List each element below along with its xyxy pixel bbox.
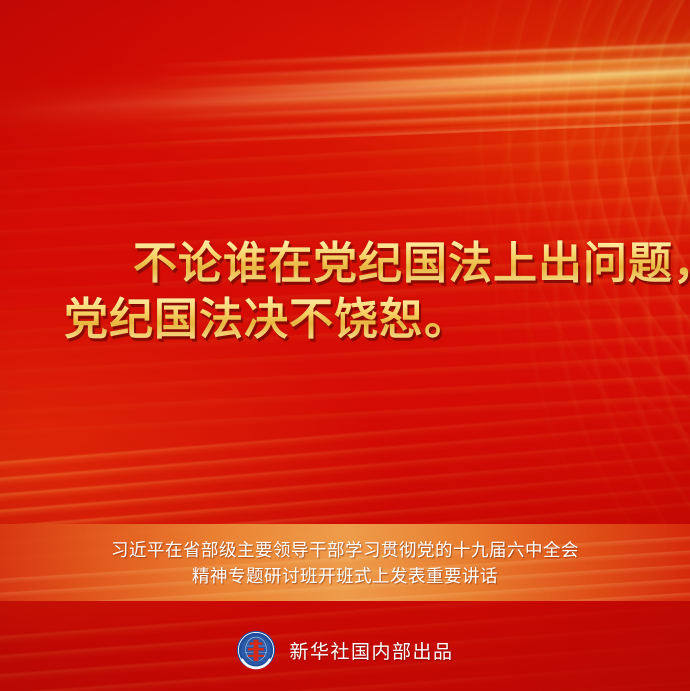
headline-line-1: 不论谁在党纪国法上出问题，: [0, 236, 690, 292]
xinhua-emblem-icon: XINHUA: [236, 630, 276, 670]
poster-root: 不论谁在党纪国法上出问题， 党纪国法决不饶恕。 习近平在省部级主要领导干部学习贯…: [0, 0, 690, 691]
svg-text:XINHUA: XINHUA: [251, 659, 262, 663]
footer: XINHUA 新华社国内部出品: [0, 620, 690, 680]
caption-band: 习近平在省部级主要领导干部学习贯彻党的十九届六中全会 精神专题研讨班开班式上发表…: [0, 524, 690, 601]
caption-line-1: 习近平在省部级主要领导干部学习贯彻党的十九届六中全会: [111, 537, 579, 563]
footer-label: 新华社国内部出品: [289, 637, 453, 664]
caption-line-2: 精神专题研讨班开班式上发表重要讲话: [192, 563, 498, 589]
headline-line-2: 党纪国法决不饶恕。: [0, 292, 690, 348]
headline-quote: 不论谁在党纪国法上出问题， 党纪国法决不饶恕。: [0, 236, 690, 348]
